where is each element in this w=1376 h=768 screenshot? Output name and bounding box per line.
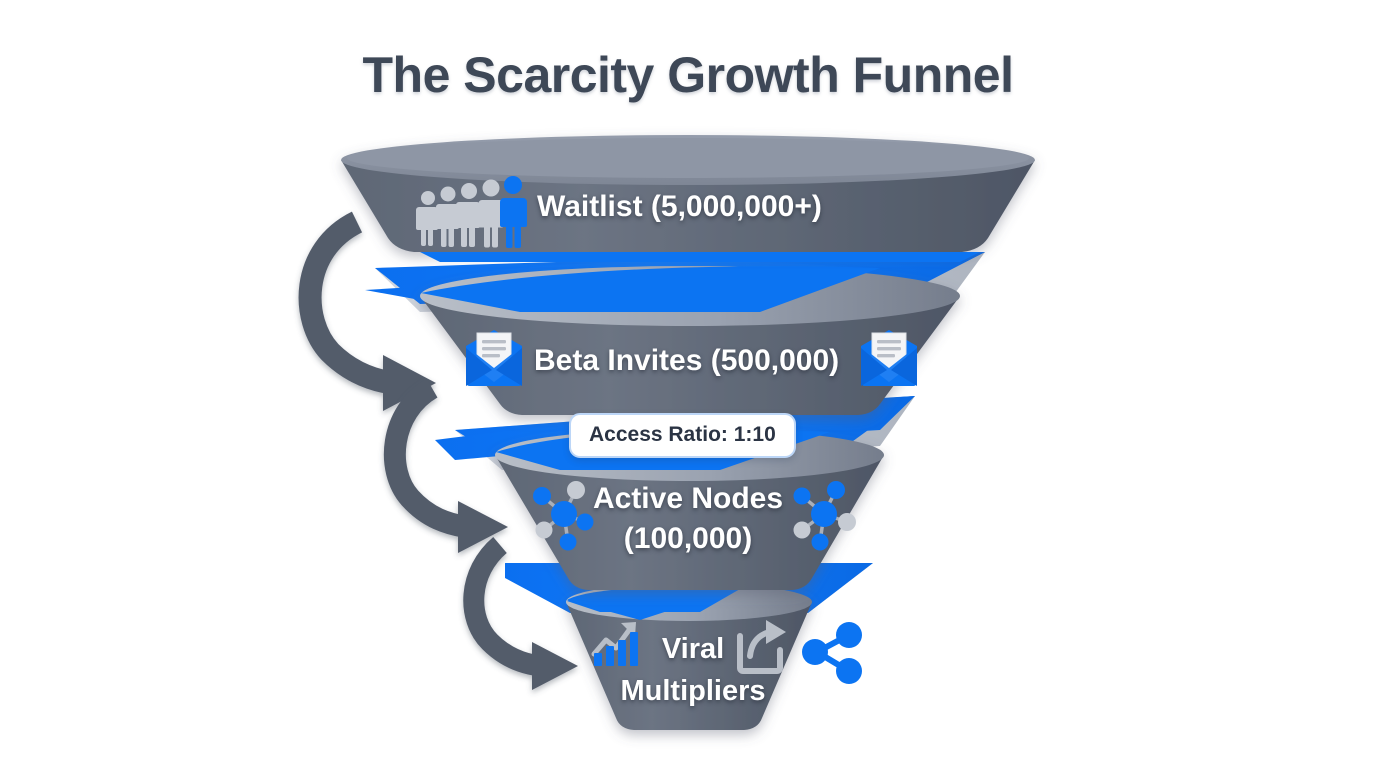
- share-network-icon: [802, 622, 862, 684]
- access-ratio-badge: Access Ratio: 1:10: [569, 413, 796, 458]
- funnel-diagram-canvas: The Scarcity Growth Funnel: [0, 0, 1376, 768]
- connector-arrow-2: [395, 388, 508, 553]
- funnel-stage-1-blue-lip: [420, 252, 980, 262]
- funnel-graphic: [0, 0, 1376, 768]
